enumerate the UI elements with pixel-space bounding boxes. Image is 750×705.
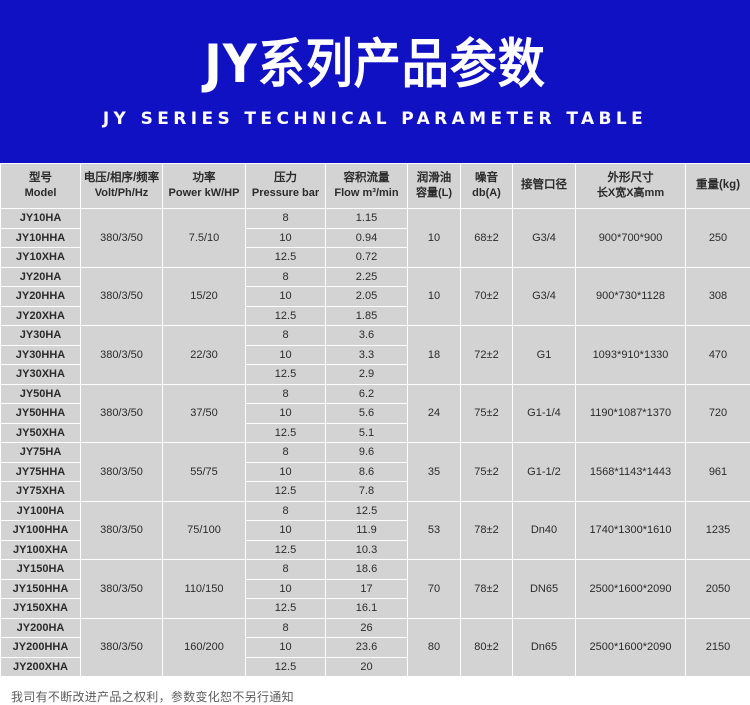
cell-noise: 70±2 <box>461 267 513 326</box>
cell-power: 15/20 <box>163 267 246 326</box>
table-header: 型号Model电压/相序/频率Volt/Ph/Hz功率Power kW/HP压力… <box>1 164 750 209</box>
column-header-8: 外形尺寸长X宽X高mm <box>576 164 686 209</box>
column-header-7: 接管口径 <box>513 164 576 209</box>
cell-noise: 78±2 <box>461 560 513 619</box>
cell-voltage: 380/3/50 <box>81 618 163 677</box>
cell-pressure: 12.5 <box>246 599 326 619</box>
cell-model: JY20XHA <box>1 306 81 326</box>
cell-pipe-diameter: G1-1/4 <box>513 384 576 443</box>
column-header-en: 容量(L) <box>408 186 460 201</box>
cell-weight: 2150 <box>686 618 750 677</box>
column-header-cn: 压力 <box>246 171 325 187</box>
cell-voltage: 380/3/50 <box>81 267 163 326</box>
cell-oil-capacity: 10 <box>408 209 461 268</box>
table-body: JY10HA380/3/507.5/1081.151068±2G3/4900*7… <box>1 209 750 677</box>
column-header-6: 噪音db(A) <box>461 164 513 209</box>
cell-flow: 9.6 <box>326 443 408 463</box>
table-row: JY75HA380/3/5055/7589.63575±2G1-1/21568*… <box>1 443 750 463</box>
cell-weight: 308 <box>686 267 750 326</box>
cell-model: JY100XHA <box>1 540 81 560</box>
cell-model: JY10HHA <box>1 228 81 248</box>
cell-model: JY30HHA <box>1 345 81 365</box>
cell-noise: 75±2 <box>461 443 513 502</box>
cell-power: 37/50 <box>163 384 246 443</box>
column-header-en: Model <box>1 186 80 201</box>
cell-model: JY75HHA <box>1 462 81 482</box>
column-header-en: db(A) <box>461 186 512 201</box>
cell-dimensions: 1190*1087*1370 <box>576 384 686 443</box>
cell-weight: 720 <box>686 384 750 443</box>
column-header-en: 长X宽X高mm <box>576 186 685 201</box>
spec-table: 型号Model电压/相序/频率Volt/Ph/Hz功率Power kW/HP压力… <box>0 163 750 677</box>
column-header-en: Power kW/HP <box>163 186 245 201</box>
cell-flow: 16.1 <box>326 599 408 619</box>
cell-model: JY10HA <box>1 209 81 229</box>
cell-pressure: 12.5 <box>246 365 326 385</box>
product-spec-page: JY系列产品参数 JY SERIES TECHNICAL PARAMETER T… <box>0 0 750 701</box>
cell-model: JY100HA <box>1 501 81 521</box>
cell-flow: 2.05 <box>326 287 408 307</box>
cell-voltage: 380/3/50 <box>81 443 163 502</box>
cell-pressure: 8 <box>246 326 326 346</box>
cell-pressure: 8 <box>246 618 326 638</box>
cell-voltage: 380/3/50 <box>81 384 163 443</box>
column-header-0: 型号Model <box>1 164 81 209</box>
table-row: JY200HA380/3/50160/2008268080±2Dn652500*… <box>1 618 750 638</box>
cell-dimensions: 900*730*1128 <box>576 267 686 326</box>
cell-model: JY150HHA <box>1 579 81 599</box>
cell-dimensions: 1740*1300*1610 <box>576 501 686 560</box>
cell-pressure: 12.5 <box>246 482 326 502</box>
cell-oil-capacity: 53 <box>408 501 461 560</box>
column-header-cn: 型号 <box>1 171 80 187</box>
table-row: JY30HA380/3/5022/3083.61872±2G11093*910*… <box>1 326 750 346</box>
cell-model: JY20HA <box>1 267 81 287</box>
cell-oil-capacity: 80 <box>408 618 461 677</box>
cell-voltage: 380/3/50 <box>81 209 163 268</box>
cell-dimensions: 900*700*900 <box>576 209 686 268</box>
table-row: JY100HA380/3/5075/100812.55378±2Dn401740… <box>1 501 750 521</box>
cell-pressure: 12.5 <box>246 306 326 326</box>
banner-subtitle: JY SERIES TECHNICAL PARAMETER TABLE <box>103 109 647 129</box>
cell-pipe-diameter: G1 <box>513 326 576 385</box>
cell-pipe-diameter: G1-1/2 <box>513 443 576 502</box>
table-row: JY20HA380/3/5015/2082.251070±2G3/4900*73… <box>1 267 750 287</box>
column-header-cn: 接管口径 <box>513 178 575 194</box>
cell-flow: 2.9 <box>326 365 408 385</box>
cell-weight: 470 <box>686 326 750 385</box>
column-header-3: 压力Pressure bar <box>246 164 326 209</box>
cell-pipe-diameter: DN65 <box>513 560 576 619</box>
cell-flow: 8.6 <box>326 462 408 482</box>
cell-dimensions: 2500*1600*2090 <box>576 618 686 677</box>
cell-flow: 23.6 <box>326 638 408 658</box>
cell-model: JY10XHA <box>1 248 81 268</box>
cell-noise: 68±2 <box>461 209 513 268</box>
cell-power: 75/100 <box>163 501 246 560</box>
cell-pressure: 8 <box>246 443 326 463</box>
cell-oil-capacity: 10 <box>408 267 461 326</box>
cell-flow: 18.6 <box>326 560 408 580</box>
cell-weight: 2050 <box>686 560 750 619</box>
cell-model: JY150HA <box>1 560 81 580</box>
cell-pressure: 10 <box>246 579 326 599</box>
cell-flow: 20 <box>326 657 408 677</box>
cell-pressure: 8 <box>246 560 326 580</box>
cell-weight: 1235 <box>686 501 750 560</box>
cell-pressure: 10 <box>246 345 326 365</box>
cell-power: 7.5/10 <box>163 209 246 268</box>
table-row: JY10HA380/3/507.5/1081.151068±2G3/4900*7… <box>1 209 750 229</box>
cell-pressure: 10 <box>246 462 326 482</box>
cell-flow: 1.15 <box>326 209 408 229</box>
column-header-cn: 重量(kg) <box>686 178 750 194</box>
cell-dimensions: 2500*1600*2090 <box>576 560 686 619</box>
cell-pressure: 10 <box>246 228 326 248</box>
column-header-en: Pressure bar <box>246 186 325 201</box>
cell-power: 160/200 <box>163 618 246 677</box>
column-header-cn: 电压/相序/频率 <box>81 171 162 187</box>
cell-flow: 5.1 <box>326 423 408 443</box>
cell-pressure: 10 <box>246 521 326 541</box>
cell-flow: 26 <box>326 618 408 638</box>
column-header-cn: 噪音 <box>461 171 512 187</box>
cell-oil-capacity: 35 <box>408 443 461 502</box>
table-row: JY50HA380/3/5037/5086.22475±2G1-1/41190*… <box>1 384 750 404</box>
spec-table-wrapper: 型号Model电压/相序/频率Volt/Ph/Hz功率Power kW/HP压力… <box>0 163 750 677</box>
cell-model: JY200HA <box>1 618 81 638</box>
cell-model: JY20HHA <box>1 287 81 307</box>
cell-voltage: 380/3/50 <box>81 501 163 560</box>
cell-weight: 961 <box>686 443 750 502</box>
cell-noise: 80±2 <box>461 618 513 677</box>
cell-flow: 7.8 <box>326 482 408 502</box>
cell-flow: 17 <box>326 579 408 599</box>
column-header-5: 润滑油容量(L) <box>408 164 461 209</box>
column-header-1: 电压/相序/频率Volt/Ph/Hz <box>81 164 163 209</box>
cell-noise: 72±2 <box>461 326 513 385</box>
header-row: 型号Model电压/相序/频率Volt/Ph/Hz功率Power kW/HP压力… <box>1 164 750 209</box>
cell-flow: 1.85 <box>326 306 408 326</box>
cell-model: JY50XHA <box>1 423 81 443</box>
cell-model: JY200XHA <box>1 657 81 677</box>
cell-model: JY200HHA <box>1 638 81 658</box>
cell-model: JY50HA <box>1 384 81 404</box>
cell-dimensions: 1568*1143*1443 <box>576 443 686 502</box>
cell-voltage: 380/3/50 <box>81 326 163 385</box>
cell-model: JY50HHA <box>1 404 81 424</box>
cell-noise: 78±2 <box>461 501 513 560</box>
cell-pressure: 12.5 <box>246 248 326 268</box>
cell-pressure: 12.5 <box>246 657 326 677</box>
cell-pipe-diameter: Dn40 <box>513 501 576 560</box>
cell-oil-capacity: 70 <box>408 560 461 619</box>
cell-pressure: 10 <box>246 404 326 424</box>
cell-flow: 3.3 <box>326 345 408 365</box>
cell-flow: 5.6 <box>326 404 408 424</box>
cell-flow: 2.25 <box>326 267 408 287</box>
cell-power: 22/30 <box>163 326 246 385</box>
cell-pipe-diameter: G3/4 <box>513 267 576 326</box>
cell-pipe-diameter: Dn65 <box>513 618 576 677</box>
cell-pressure: 8 <box>246 267 326 287</box>
page-banner: JY系列产品参数 JY SERIES TECHNICAL PARAMETER T… <box>0 0 750 163</box>
cell-pressure: 10 <box>246 287 326 307</box>
cell-flow: 11.9 <box>326 521 408 541</box>
cell-pressure: 8 <box>246 501 326 521</box>
column-header-cn: 外形尺寸 <box>576 171 685 187</box>
column-header-9: 重量(kg) <box>686 164 750 209</box>
cell-flow: 6.2 <box>326 384 408 404</box>
cell-model: JY30XHA <box>1 365 81 385</box>
cell-pressure: 12.5 <box>246 540 326 560</box>
column-header-en: Volt/Ph/Hz <box>81 186 162 201</box>
column-header-cn: 润滑油 <box>408 171 460 187</box>
column-header-2: 功率Power kW/HP <box>163 164 246 209</box>
cell-power: 55/75 <box>163 443 246 502</box>
cell-power: 110/150 <box>163 560 246 619</box>
cell-oil-capacity: 18 <box>408 326 461 385</box>
cell-noise: 75±2 <box>461 384 513 443</box>
cell-pressure: 12.5 <box>246 423 326 443</box>
cell-pressure: 8 <box>246 384 326 404</box>
cell-pressure: 8 <box>246 209 326 229</box>
cell-voltage: 380/3/50 <box>81 560 163 619</box>
cell-dimensions: 1093*910*1330 <box>576 326 686 385</box>
column-header-en: Flow m³/min <box>326 186 407 201</box>
cell-flow: 10.3 <box>326 540 408 560</box>
table-row: JY150HA380/3/50110/150818.67078±2DN65250… <box>1 560 750 580</box>
column-header-cn: 容积流量 <box>326 171 407 187</box>
cell-model: JY75HA <box>1 443 81 463</box>
cell-pressure: 10 <box>246 638 326 658</box>
cell-flow: 3.6 <box>326 326 408 346</box>
cell-flow: 12.5 <box>326 501 408 521</box>
cell-flow: 0.72 <box>326 248 408 268</box>
column-header-cn: 功率 <box>163 171 245 187</box>
cell-oil-capacity: 24 <box>408 384 461 443</box>
cell-weight: 250 <box>686 209 750 268</box>
banner-title: JY系列产品参数 <box>204 37 546 92</box>
cell-model: JY150XHA <box>1 599 81 619</box>
cell-model: JY75XHA <box>1 482 81 502</box>
cell-pipe-diameter: G3/4 <box>513 209 576 268</box>
cell-model: JY100HHA <box>1 521 81 541</box>
column-header-4: 容积流量Flow m³/min <box>326 164 408 209</box>
cell-flow: 0.94 <box>326 228 408 248</box>
cell-model: JY30HA <box>1 326 81 346</box>
